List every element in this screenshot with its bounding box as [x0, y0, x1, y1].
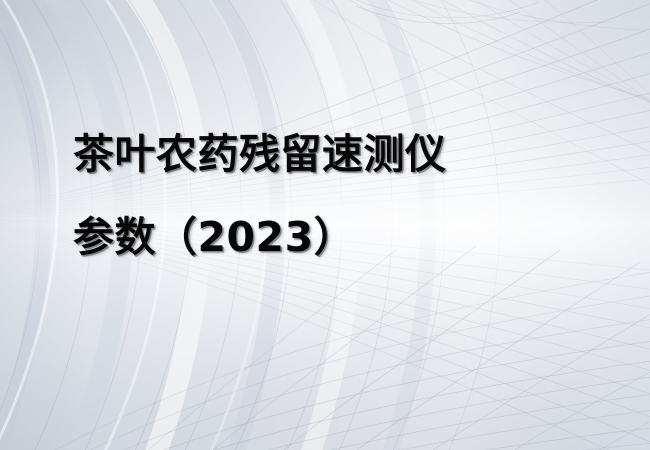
title-line-primary: 茶叶农药残留速测仪 [73, 134, 613, 175]
title-line-secondary: 参数（2023） [73, 217, 613, 258]
title-card-slide: 茶叶农药残留速测仪 参数（2023） [0, 0, 650, 450]
title-block: 茶叶农药残留速测仪 参数（2023） [73, 134, 613, 258]
